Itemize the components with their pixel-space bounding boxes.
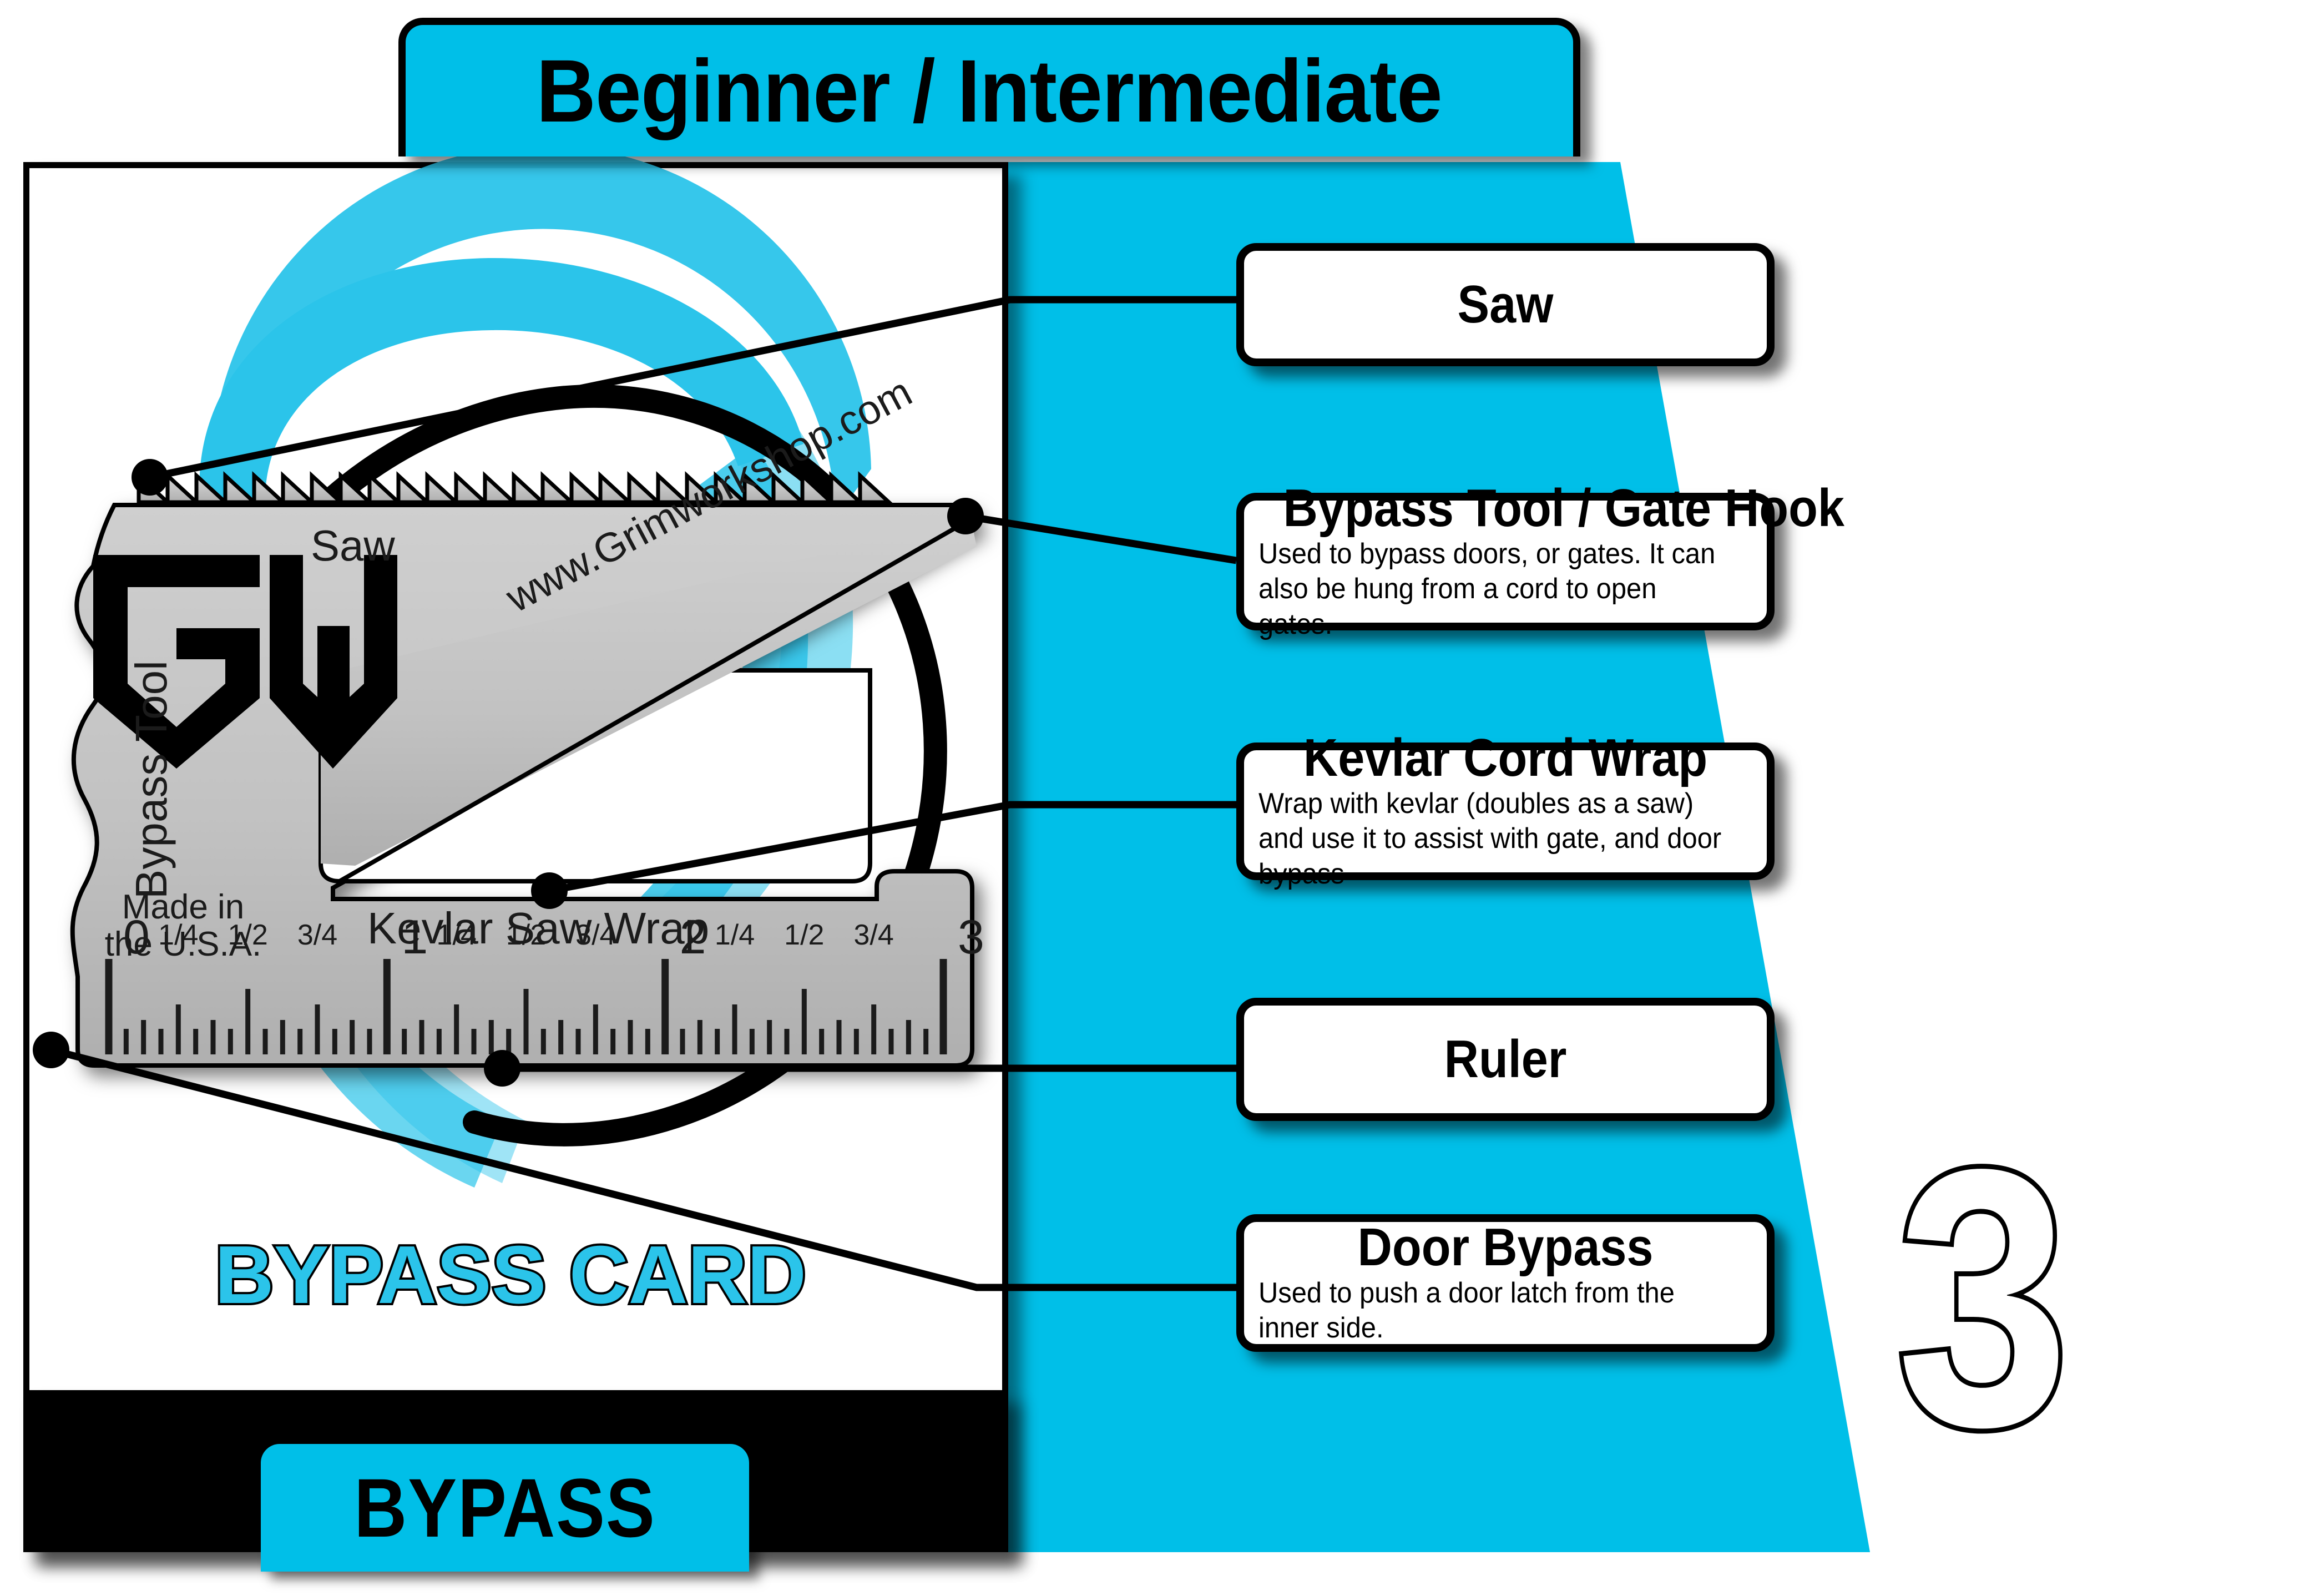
- callout-bypass-tool-title: Bypass Tool / Gate Hook: [1283, 481, 1728, 536]
- callout-bypass-tool-body: Used to bypass doors, or gates. It can a…: [1258, 537, 1723, 642]
- callout-door-bypass[interactable]: Door Bypass Used to push a door latch fr…: [1236, 1214, 1775, 1352]
- callout-door-bypass-body: Used to push a door latch from the inner…: [1258, 1276, 1723, 1346]
- header-title: Beginner / Intermediate: [537, 40, 1442, 142]
- card-panel: [23, 162, 1008, 1552]
- footer-banner: BYPASS: [261, 1444, 749, 1572]
- callout-ruler-title: Ruler: [1283, 1032, 1728, 1087]
- callout-bypass-tool[interactable]: Bypass Tool / Gate Hook Used to bypass d…: [1236, 493, 1775, 630]
- difficulty-number-badge: 3: [1897, 1151, 2070, 1445]
- callout-saw-title: Saw: [1283, 277, 1728, 332]
- callout-kevlar-cord-wrap[interactable]: Kevlar Cord Wrap Wrap with kevlar (doubl…: [1236, 743, 1775, 880]
- header-banner: Beginner / Intermediate: [398, 18, 1580, 156]
- callout-door-bypass-title: Door Bypass: [1283, 1220, 1728, 1275]
- callout-saw[interactable]: Saw: [1236, 243, 1775, 366]
- infographic-stage: Saw www.Grimworkshop.com Bypass Tool Mad…: [0, 0, 2315, 1596]
- callout-kevlar-cord-wrap-title: Kevlar Cord Wrap: [1283, 731, 1728, 785]
- callout-ruler[interactable]: Ruler: [1236, 998, 1775, 1121]
- callout-kevlar-cord-wrap-body: Wrap with kevlar (doubles as a saw) and …: [1258, 786, 1723, 892]
- footer-banner-label: BYPASS: [354, 1460, 656, 1556]
